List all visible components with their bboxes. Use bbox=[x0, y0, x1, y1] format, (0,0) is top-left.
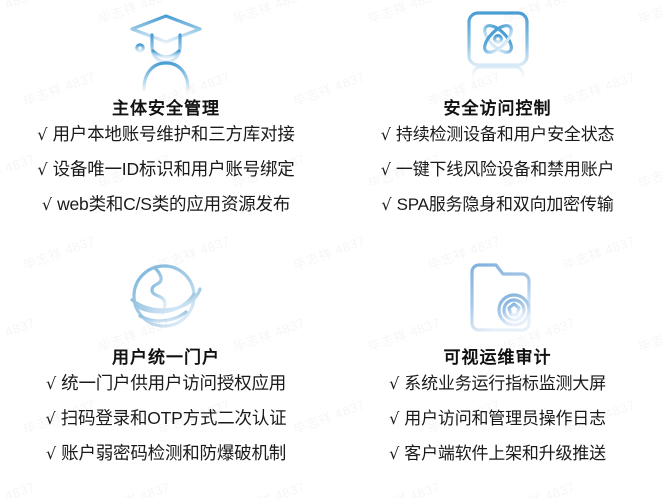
feature-grid: 主体安全管理 √ 用户本地账号维护和三方库对接 √ 设备唯一ID标识和用户账号绑… bbox=[0, 0, 663, 498]
list-item: √ web类和C/S类的应用资源发布 bbox=[42, 196, 290, 231]
check-icon: √ bbox=[42, 197, 52, 213]
card-feature-list: √ 系统业务运行指标监测大屏 √ 用户访问和管理员操作日志 √ 客户端软件上架和… bbox=[332, 375, 663, 480]
check-icon: √ bbox=[46, 411, 56, 427]
list-item: √ SPA服务隐身和双向加密传输 bbox=[381, 196, 613, 231]
list-item-label: 客户端软件上架和升级推送 bbox=[404, 445, 606, 462]
list-item: √ 统一门户供用户访问授权应用 bbox=[46, 375, 286, 410]
check-icon: √ bbox=[381, 197, 391, 213]
card-feature-list: √ 统一门户供用户访问授权应用 √ 扫码登录和OTP方式二次认证 √ 账户弱密码… bbox=[0, 375, 332, 480]
list-item-label: 系统业务运行指标监测大屏 bbox=[404, 375, 606, 392]
globe-icon bbox=[118, 255, 214, 343]
list-item-label: 持续检测设备和用户安全状态 bbox=[396, 126, 614, 143]
list-item: √ 账户弱密码检测和防爆破机制 bbox=[46, 445, 286, 480]
check-icon: √ bbox=[37, 127, 47, 143]
check-icon: √ bbox=[46, 446, 56, 462]
list-item: √ 用户访问和管理员操作日志 bbox=[389, 410, 606, 445]
list-item-label: 用户本地账号维护和三方库对接 bbox=[53, 126, 295, 144]
check-icon: √ bbox=[46, 376, 56, 392]
atom-shield-icon bbox=[450, 6, 546, 94]
check-icon: √ bbox=[381, 127, 391, 143]
list-item: √ 持续检测设备和用户安全状态 bbox=[381, 126, 615, 161]
card-feature-list: √ 用户本地账号维护和三方库对接 √ 设备唯一ID标识和用户账号绑定 √ web… bbox=[0, 126, 332, 231]
list-item: √ 设备唯一ID标识和用户账号绑定 bbox=[37, 161, 294, 196]
feature-card-unified-user-portal: 用户统一门户 √ 统一门户供用户访问授权应用 √ 扫码登录和OTP方式二次认证 … bbox=[0, 249, 332, 498]
card-title: 用户统一门户 bbox=[112, 349, 220, 366]
card-title: 主体安全管理 bbox=[112, 100, 220, 117]
document-seal-icon bbox=[450, 255, 546, 343]
list-item-label: 账户弱密码检测和防爆破机制 bbox=[61, 445, 286, 463]
card-feature-list: √ 持续检测设备和用户安全状态 √ 一键下线风险设备和禁用账户 √ SPA服务隐… bbox=[332, 126, 663, 231]
graduate-user-icon bbox=[118, 6, 214, 94]
list-item: √ 扫码登录和OTP方式二次认证 bbox=[46, 410, 287, 445]
check-icon: √ bbox=[389, 446, 399, 462]
card-title: 安全访问控制 bbox=[444, 100, 552, 117]
list-item-label: SPA服务隐身和双向加密传输 bbox=[397, 196, 614, 213]
check-icon: √ bbox=[389, 376, 399, 392]
list-item-label: web类和C/S类的应用资源发布 bbox=[57, 196, 290, 214]
list-item-label: 用户访问和管理员操作日志 bbox=[404, 410, 606, 427]
list-item-label: 扫码登录和OTP方式二次认证 bbox=[61, 410, 287, 428]
list-item-label: 统一门户供用户访问授权应用 bbox=[61, 375, 286, 393]
check-icon: √ bbox=[37, 162, 47, 178]
list-item: √ 一键下线风险设备和禁用账户 bbox=[381, 161, 615, 196]
list-item-label: 设备唯一ID标识和用户账号绑定 bbox=[53, 161, 295, 179]
feature-card-subject-security-management: 主体安全管理 √ 用户本地账号维护和三方库对接 √ 设备唯一ID标识和用户账号绑… bbox=[0, 0, 332, 249]
list-item: √ 用户本地账号维护和三方库对接 bbox=[37, 126, 294, 161]
check-icon: √ bbox=[389, 411, 399, 427]
check-icon: √ bbox=[381, 162, 391, 178]
feature-card-visual-ops-audit: 可视运维审计 √ 系统业务运行指标监测大屏 √ 用户访问和管理员操作日志 √ 客… bbox=[332, 249, 663, 498]
card-title: 可视运维审计 bbox=[444, 349, 552, 366]
feature-card-secure-access-control: 安全访问控制 √ 持续检测设备和用户安全状态 √ 一键下线风险设备和禁用账户 √… bbox=[332, 0, 663, 249]
list-item: √ 系统业务运行指标监测大屏 bbox=[389, 375, 606, 410]
list-item: √ 客户端软件上架和升级推送 bbox=[389, 445, 606, 480]
list-item-label: 一键下线风险设备和禁用账户 bbox=[396, 161, 614, 178]
